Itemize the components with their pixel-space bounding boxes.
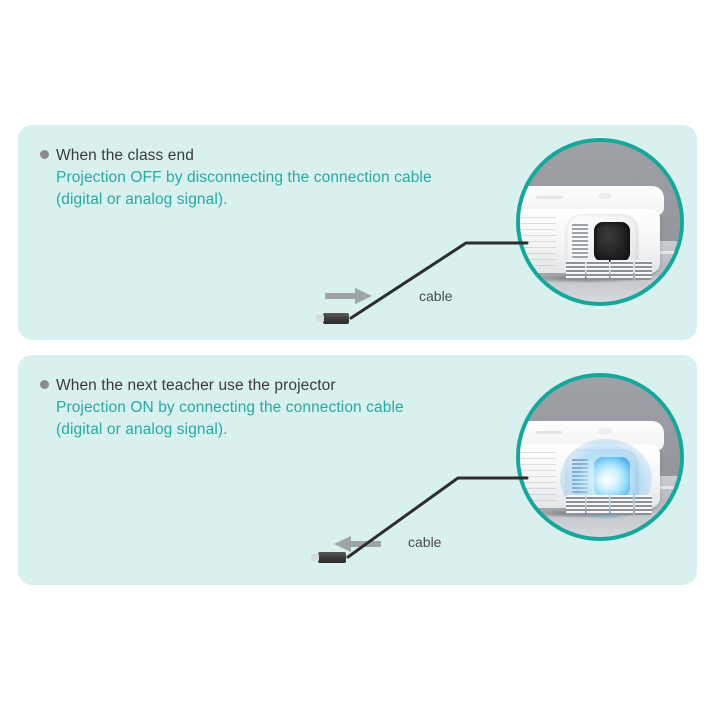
arrow-head — [334, 536, 351, 552]
panel-1-description-line-2: (digital or analog signal). — [56, 189, 432, 211]
projector-top-button — [598, 193, 612, 199]
projector-lens-on — [594, 457, 630, 497]
panel-2-description-line-2: (digital or analog signal). — [56, 419, 404, 441]
panel-1-description-line-1: Projection OFF by disconnecting the conn… — [56, 167, 432, 189]
arrow-shaft — [325, 293, 357, 299]
cable-label-off: cable — [419, 288, 452, 304]
projector-icon — [516, 186, 664, 278]
projector-top-button-strip — [536, 431, 562, 434]
cable-label-on: cable — [408, 534, 441, 550]
projector-circle-on — [516, 373, 684, 541]
plug-tip — [311, 554, 319, 561]
panel-2-description-line-1: Projection ON by connecting the connecti… — [56, 397, 404, 419]
cable-plug-icon-disconnected — [323, 313, 349, 324]
infographic-stage: When the class end Projection OFF by dis… — [0, 0, 715, 715]
panel-1-text-block: When the class end Projection OFF by dis… — [40, 145, 432, 211]
panel-2-heading-row: When the next teacher use the projector — [40, 375, 404, 397]
panel-2-text-block: When the next teacher use the projector … — [40, 375, 404, 441]
projector-lens-vents — [572, 222, 588, 258]
projector-lens-vents — [572, 457, 588, 493]
arrow-left-icon — [333, 536, 381, 552]
panel-2-heading: When the next teacher use the projector — [56, 375, 336, 397]
panel-projection-on: When the next teacher use the projector … — [18, 355, 697, 585]
projector-circle-off — [516, 138, 684, 306]
projector-side-ribs — [516, 212, 556, 270]
arrow-head — [355, 288, 372, 304]
arrow-right-icon — [325, 288, 373, 304]
panel-1-heading: When the class end — [56, 145, 194, 167]
projector-bottom-grill — [566, 495, 652, 515]
projector-top-button — [598, 428, 612, 434]
plug-tip — [316, 315, 324, 322]
projector-bottom-grill — [566, 260, 652, 280]
projector-side-ribs — [516, 447, 556, 505]
bullet-dot-icon — [40, 150, 49, 159]
bullet-dot-icon — [40, 380, 49, 389]
projector-lens-off — [594, 222, 630, 262]
cable-plug-icon-connected — [318, 552, 346, 563]
projector-top-button-strip — [536, 196, 562, 199]
panel-projection-off: When the class end Projection OFF by dis… — [18, 125, 697, 340]
projector-icon — [516, 421, 664, 513]
arrow-shaft — [349, 541, 381, 547]
panel-1-heading-row: When the class end — [40, 145, 432, 167]
